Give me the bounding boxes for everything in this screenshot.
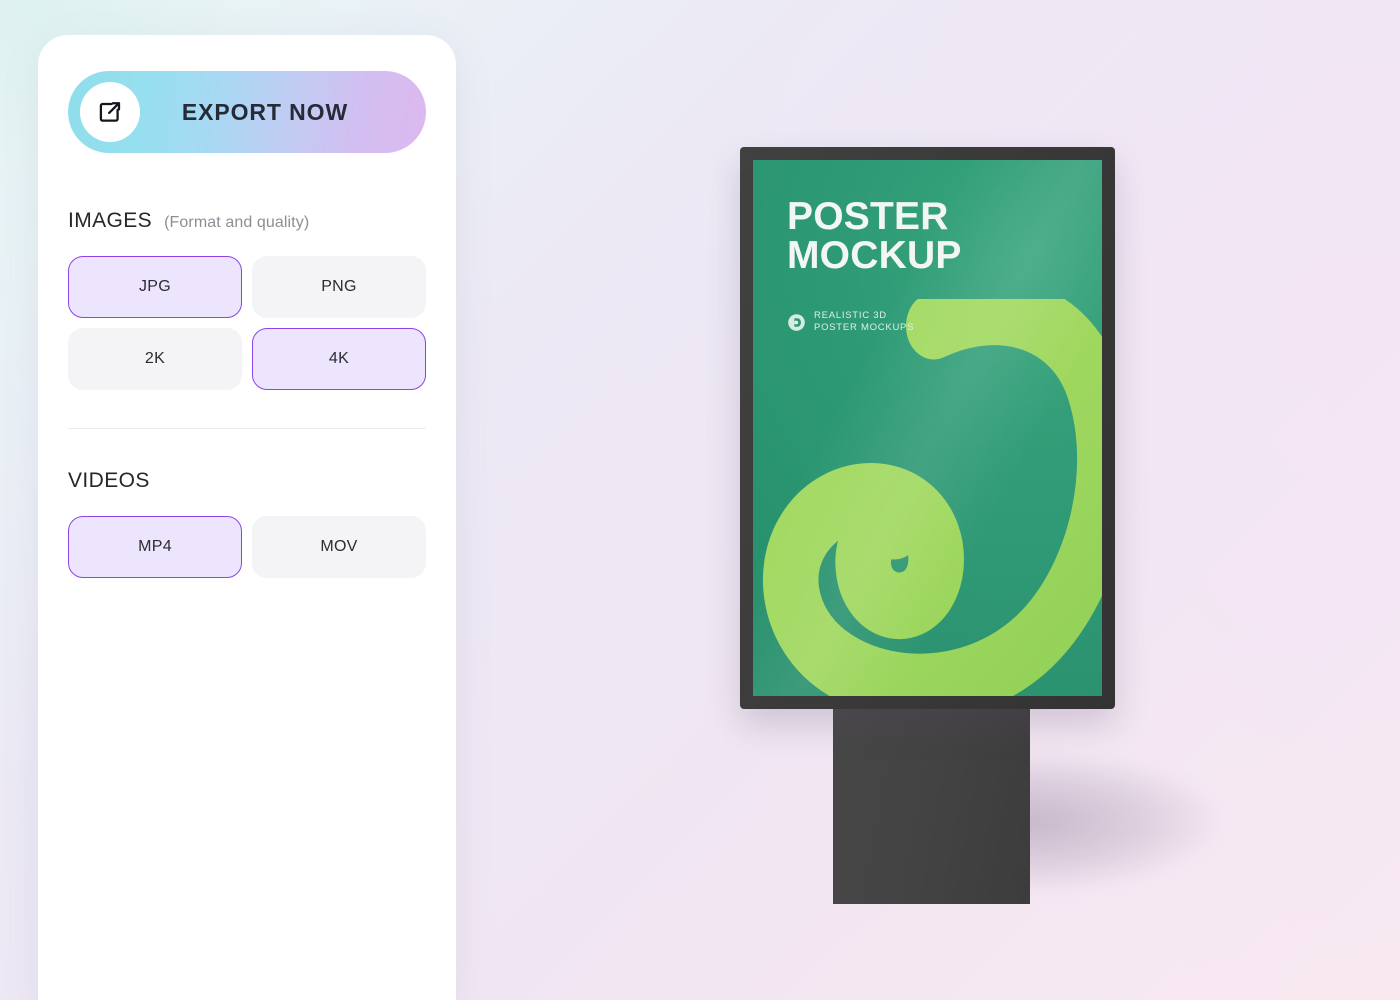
- videos-section-title: VIDEOS: [68, 469, 150, 493]
- panel-content: EXPORT NOW IMAGES (Format and quality) J…: [68, 71, 426, 578]
- option-chip-mp4[interactable]: MP4: [68, 516, 242, 578]
- option-chip-2k[interactable]: 2K: [68, 328, 242, 390]
- poster-title: POSTER MOCKUP: [787, 198, 962, 275]
- circle-d-logo-icon: [787, 313, 806, 332]
- videos-section-heading: VIDEOS: [68, 469, 426, 493]
- poster-brand-block: REALISTIC 3D POSTER MOCKUPS: [787, 310, 914, 334]
- video-format-options: MP4 MOV: [68, 516, 426, 578]
- option-chip-4k-label: 4K: [329, 350, 349, 368]
- option-chip-png-label: PNG: [321, 278, 357, 296]
- poster-artwork: POSTER MOCKUP REALISTIC 3D POSTER MOCKUP…: [753, 160, 1102, 696]
- poster-brand-line2: POSTER MOCKUPS: [814, 322, 914, 334]
- option-chip-mov-label: MOV: [320, 538, 357, 556]
- poster-title-line1: POSTER: [787, 195, 949, 238]
- green-swirl-graphic: [753, 299, 1102, 696]
- poster-title-line2: MOCKUP: [787, 237, 962, 276]
- option-chip-mov[interactable]: MOV: [252, 516, 426, 578]
- images-section-subtitle: (Format and quality): [164, 214, 309, 232]
- poster-brand-line1: REALISTIC 3D: [814, 310, 914, 322]
- export-settings-panel: EXPORT NOW IMAGES (Format and quality) J…: [38, 35, 456, 1000]
- image-format-options: JPG PNG 2K 4K: [68, 256, 426, 390]
- images-section-title: IMAGES: [68, 209, 152, 233]
- option-chip-2k-label: 2K: [145, 350, 165, 368]
- option-chip-mp4-label: MP4: [138, 538, 172, 556]
- external-link-icon: [80, 82, 140, 142]
- poster-frame: POSTER MOCKUP REALISTIC 3D POSTER MOCKUP…: [740, 147, 1115, 709]
- poster-mockup-preview: POSTER MOCKUP REALISTIC 3D POSTER MOCKUP…: [700, 120, 1260, 920]
- option-chip-jpg-label: JPG: [139, 278, 171, 296]
- poster-brand-text: REALISTIC 3D POSTER MOCKUPS: [814, 310, 914, 334]
- export-now-button[interactable]: EXPORT NOW: [68, 71, 426, 153]
- option-chip-4k[interactable]: 4K: [252, 328, 426, 390]
- poster-pedestal: [833, 705, 1030, 904]
- option-chip-png[interactable]: PNG: [252, 256, 426, 318]
- images-section-heading: IMAGES (Format and quality): [68, 209, 426, 233]
- app-root: EXPORT NOW IMAGES (Format and quality) J…: [0, 0, 1400, 1000]
- option-chip-jpg[interactable]: JPG: [68, 256, 242, 318]
